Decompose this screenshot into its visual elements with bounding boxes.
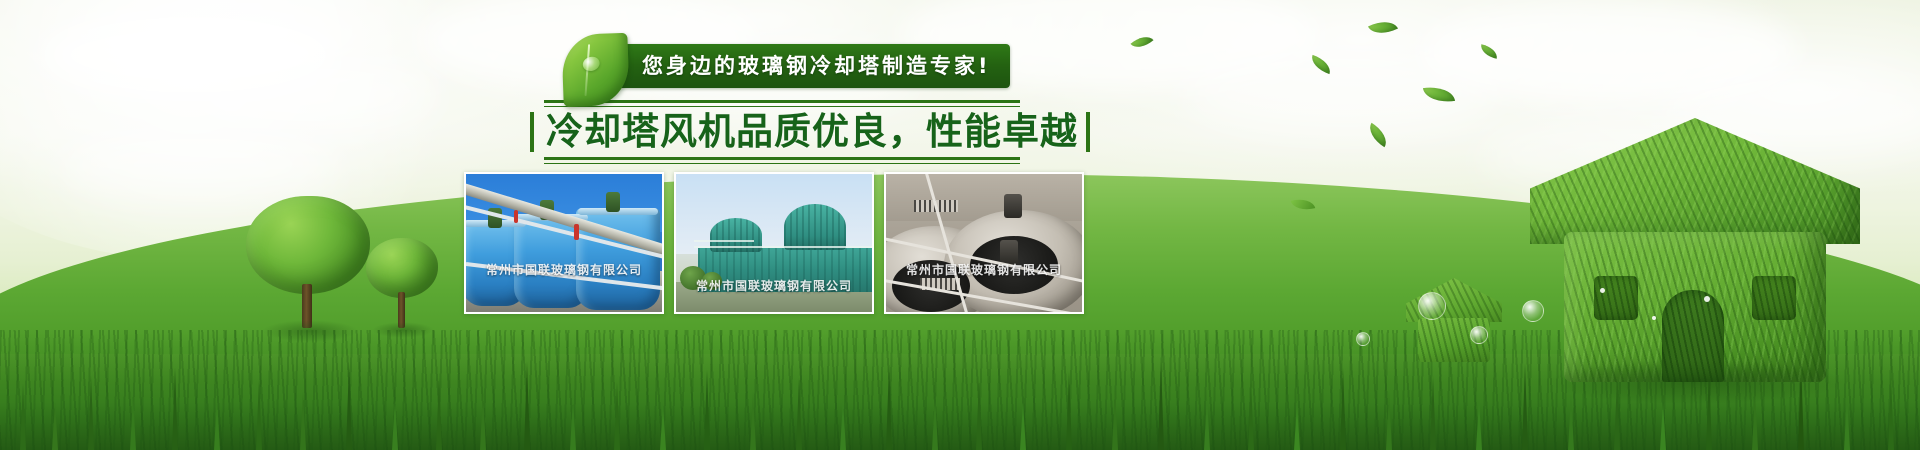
headline-bar-left (530, 112, 534, 152)
headline-text: 冷却塔风机品质优良，性能卓越 (546, 107, 1078, 157)
headline-rule-bottom-thin (544, 163, 1020, 164)
sparkle-2 (1652, 316, 1656, 320)
motor-icon (1004, 194, 1022, 218)
sparkle-3 (1704, 296, 1710, 302)
photo-watermark: 常州市国联玻璃钢有限公司 (886, 261, 1082, 278)
house-shadow (1550, 360, 1842, 404)
house-window-right (1752, 276, 1796, 320)
floating-leaf-1 (1368, 15, 1398, 40)
bubble-4 (1522, 300, 1544, 322)
house-roof (1530, 118, 1860, 244)
promo-banner: 您身边的玻璃钢冷却塔制造专家! 冷却塔风机品质优良，性能卓越 (0, 0, 1920, 450)
sparkle-1 (1600, 288, 1605, 293)
grass-house (1530, 122, 1860, 382)
bubble-2 (1470, 326, 1488, 344)
tagline: 您身边的玻璃钢冷却塔制造专家! (556, 44, 991, 88)
bubble-3 (1356, 332, 1370, 346)
headline-block: 冷却塔风机品质优良，性能卓越 (530, 100, 1020, 164)
small-tree (366, 238, 438, 330)
headline-rule-bottom (544, 157, 1020, 160)
photo-watermark: 常州市国联玻璃钢有限公司 (676, 277, 872, 294)
house-window-left (1594, 276, 1638, 320)
photo-watermark: 常州市国联玻璃钢有限公司 (466, 261, 662, 278)
headline-bar-right (1086, 112, 1090, 152)
cloud-9 (60, 130, 340, 200)
photo-blue-frp-cooling-tower-row[interactable]: 常州市国联玻璃钢有限公司 (464, 172, 664, 314)
bubble-1 (1418, 292, 1446, 320)
photo-teal-square-cooling-towers-plant[interactable]: 常州市国联玻璃钢有限公司 (674, 172, 874, 314)
product-photo-gallery: 常州市国联玻璃钢有限公司 常州市国联玻璃钢有限公司 (464, 172, 1084, 314)
photo-grey-round-cooling-towers-topview[interactable]: 常州市国联玻璃钢有限公司 (884, 172, 1084, 314)
cloud-2 (180, 60, 440, 130)
large-tree (246, 196, 370, 328)
grass-mini-house (1406, 280, 1502, 362)
